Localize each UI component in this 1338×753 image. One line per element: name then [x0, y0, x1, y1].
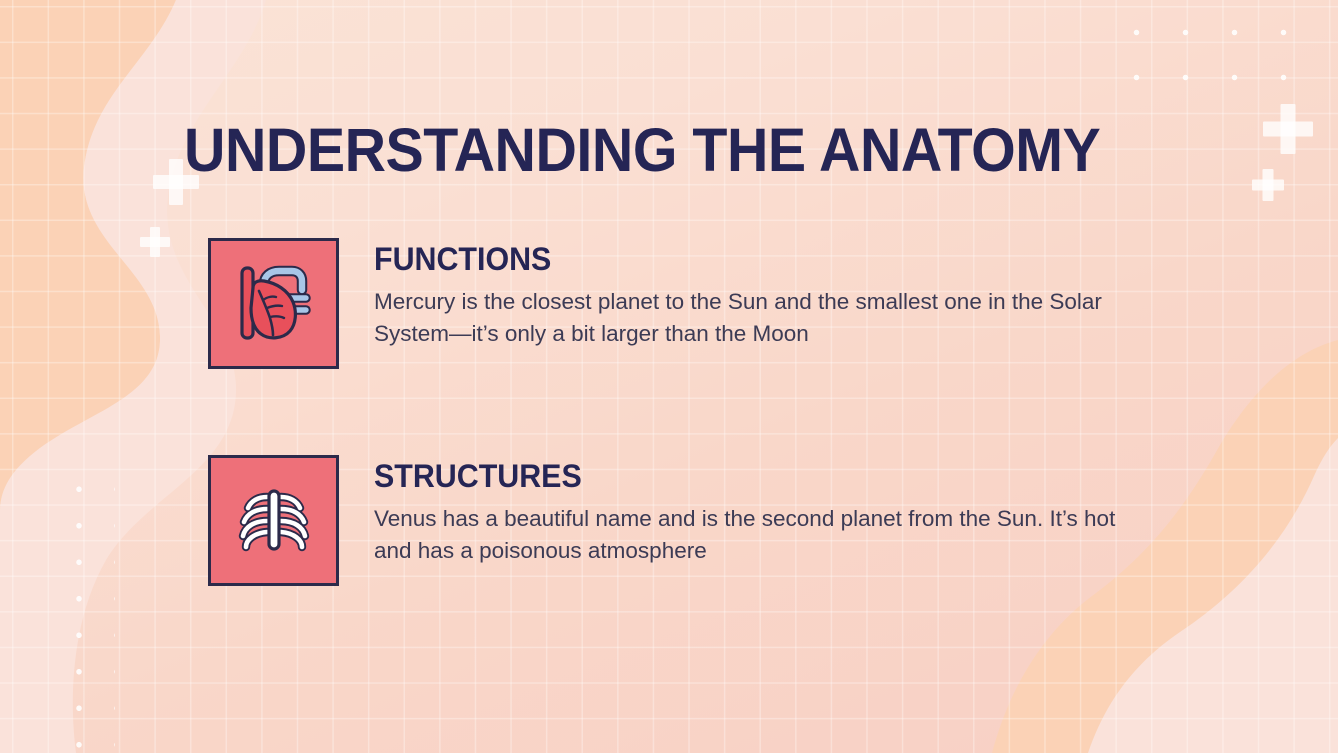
feature-item-structures: STRUCTURES Venus has a beautiful name an… [208, 455, 1148, 586]
dot-grid-bottom-left [60, 471, 115, 751]
feature-heading-structures: STRUCTURES [374, 460, 1096, 492]
ribcage-icon [236, 485, 312, 557]
feature-item-functions: FUNCTIONS Mercury is the closest planet … [208, 238, 1148, 369]
page-title: UNDERSTANDING THE ANATOMY [184, 120, 1100, 181]
plus-mark-small-right [1252, 169, 1284, 201]
icon-box-functions [208, 238, 339, 369]
feature-body-functions: Mercury is the closest planet to the Sun… [374, 286, 1134, 350]
left-peach-blob [0, 0, 176, 512]
icon-box-structures [208, 455, 339, 586]
slide-canvas: UNDERSTANDING THE ANATOMY [0, 0, 1338, 753]
plus-mark-small-left [140, 227, 170, 257]
dot-grid-top-right [1112, 10, 1316, 90]
feature-heading-functions: FUNCTIONS [374, 243, 1096, 275]
feature-text-structures: STRUCTURES Venus has a beautiful name an… [374, 455, 1134, 567]
heart-icon [236, 264, 312, 344]
plus-mark-large-right [1263, 104, 1313, 154]
feature-text-functions: FUNCTIONS Mercury is the closest planet … [374, 238, 1134, 350]
feature-list: FUNCTIONS Mercury is the closest planet … [208, 238, 1148, 586]
feature-body-structures: Venus has a beautiful name and is the se… [374, 503, 1134, 567]
